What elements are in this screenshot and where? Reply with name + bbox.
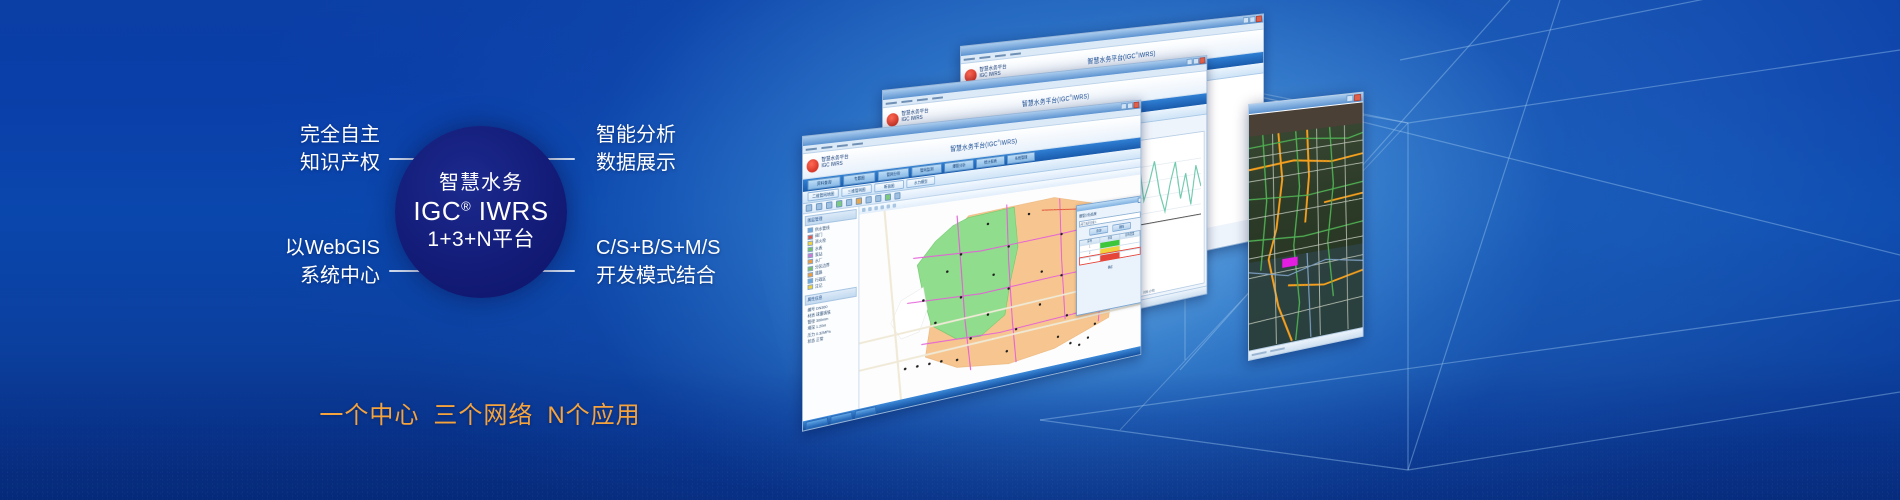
label-top-right-line2: 数据展示 [596,149,826,177]
company-logo-icon [887,112,899,127]
hub-circle: 智慧水务 IGC®IWRS 1+3+N平台 [395,126,567,298]
search-icon[interactable] [880,205,883,209]
query-button[interactable]: 查询 [1089,226,1108,236]
satellite-road-layer [1249,102,1363,351]
map-canvas[interactable]: 爆管分析结果 阀门关闭方案 1 查询 删除 [859,174,1140,409]
registered-mark-icon: ® [461,199,471,214]
close-icon[interactable] [1256,15,1262,22]
hub-product-name: IGC®IWRS [413,197,548,226]
layers-icon[interactable] [894,192,900,200]
pointer-icon[interactable] [862,208,866,212]
layer-tree[interactable]: 供水管线 阀门 消火栓 水表 泵站 水厂 分区边界 道路 行政区 注记 [805,221,857,292]
label-bottom-left: 以WebGIS 系统中心 [200,234,380,291]
minimize-icon[interactable] [1346,95,1353,103]
delete-button[interactable]: 删除 [1112,222,1130,232]
app-title-main: 智慧水务平台(IGC [950,141,997,153]
identify-icon[interactable] [885,193,891,201]
tagline-part-3: N个应用 [547,402,640,429]
maximize-icon[interactable] [1193,58,1199,65]
layer-panel[interactable]: 图层管理 供水管线 阀门 消火栓 水表 泵站 水厂 分区边界 道路 行政区 注记… [803,207,859,423]
label-bottom-left-line2: 系统中心 [200,262,380,290]
label-top-left-line1: 完全自主 [200,121,380,149]
label-bottom-right: C/S+B/S+M/S 开发模式结合 [596,234,826,291]
label-top-left-line2: 知识产权 [200,149,380,177]
tagline-part-2: 三个网络 [433,402,533,429]
tagline-part-1: 一个中心 [319,402,419,429]
hub-title: 智慧水务 [439,172,523,194]
app-title-tail: IWRS) [1138,51,1155,60]
app-title-tail: IWRS) [1000,138,1017,147]
label-bottom-right-line2: 开发模式结合 [596,262,826,290]
dialog-body: 爆管分析结果 阀门关闭方案 1 查询 删除 [1077,201,1141,277]
dialog-close-icon[interactable] [1138,197,1141,203]
hub-product-iwrs: IWRS [479,196,549,226]
gis-map-view[interactable]: 爆管分析结果 阀门关闭方案 1 查询 删除 [859,167,1140,409]
zoom-icon[interactable] [874,206,878,210]
logo-line2: IGC IWRS [821,161,848,170]
label-bottom-left-line1: 以WebGIS [200,234,380,262]
banner-root: 智慧水务 IGC®IWRS 1+3+N平台 完全自主 知识产权 以WebGIS … [0,0,1900,500]
label-top-right-line1: 智能分析 [596,121,826,149]
screenshot-stack: 智慧水务平台 IGC IWRS 智慧水务平台(IGC®IWRS) 资料查询 专题… [960,46,1720,446]
close-icon[interactable] [1134,102,1140,109]
minimize-icon[interactable] [1187,58,1193,65]
open-icon[interactable] [806,204,812,212]
zoom-out-icon[interactable] [846,199,852,207]
print-icon[interactable] [826,201,832,209]
label-top-left: 完全自主 知识产权 [200,121,380,178]
burst-analysis-dialog[interactable]: 爆管分析结果 阀门关闭方案 1 查询 删除 [1076,195,1140,316]
tagline: 一个中心三个网络N个应用 [200,395,760,430]
company-logo-icon [807,158,819,173]
label-top-right: 智能分析 数据展示 [596,121,826,178]
minimize-icon[interactable] [1121,103,1127,110]
measure-icon[interactable] [875,195,881,203]
dialog-input-value: 阀门关闭方案 1 [1080,220,1097,226]
ruler-icon[interactable] [887,204,890,208]
satellite-map-canvas[interactable] [1249,102,1363,351]
app-window-front[interactable]: 智慧水务平台 IGC IWRS 智慧水务平台(IGC®IWRS) 资料查询 专题… [802,100,1141,432]
label-bottom-right-line1: C/S+B/S+M/S [596,234,826,262]
select-icon[interactable] [866,196,872,204]
save-icon[interactable] [816,203,822,211]
print-icon[interactable] [893,203,896,207]
hand-icon[interactable] [868,207,872,211]
app-title-front: 智慧水务平台(IGC®IWRS) [950,136,1017,154]
close-icon[interactable] [1200,57,1206,64]
maximize-icon[interactable] [1127,102,1133,109]
app-title-main: 智慧水务平台(IGC [1022,95,1070,107]
hub-platform: 1+3+N平台 [427,228,534,252]
maximize-icon[interactable] [1250,16,1256,23]
satellite-map-window[interactable] [1248,92,1363,361]
close-icon[interactable] [1354,94,1361,102]
logo-text-front: 智慧水务平台 IGC IWRS [821,155,848,170]
app-title-tail: IWRS) [1072,93,1089,102]
attribute-list: 编号 DN300 材质 球墨铸铁 管径 300mm 埋深 1.20m 压力 0.… [805,299,857,346]
hub-product-igc: IGC [413,196,461,226]
pan-icon[interactable] [856,197,862,205]
minimize-icon[interactable] [1243,17,1249,24]
zoom-in-icon[interactable] [836,200,842,208]
concept-diagram: 智慧水务 IGC®IWRS 1+3+N平台 完全自主 知识产权 以WebGIS … [0,0,900,500]
